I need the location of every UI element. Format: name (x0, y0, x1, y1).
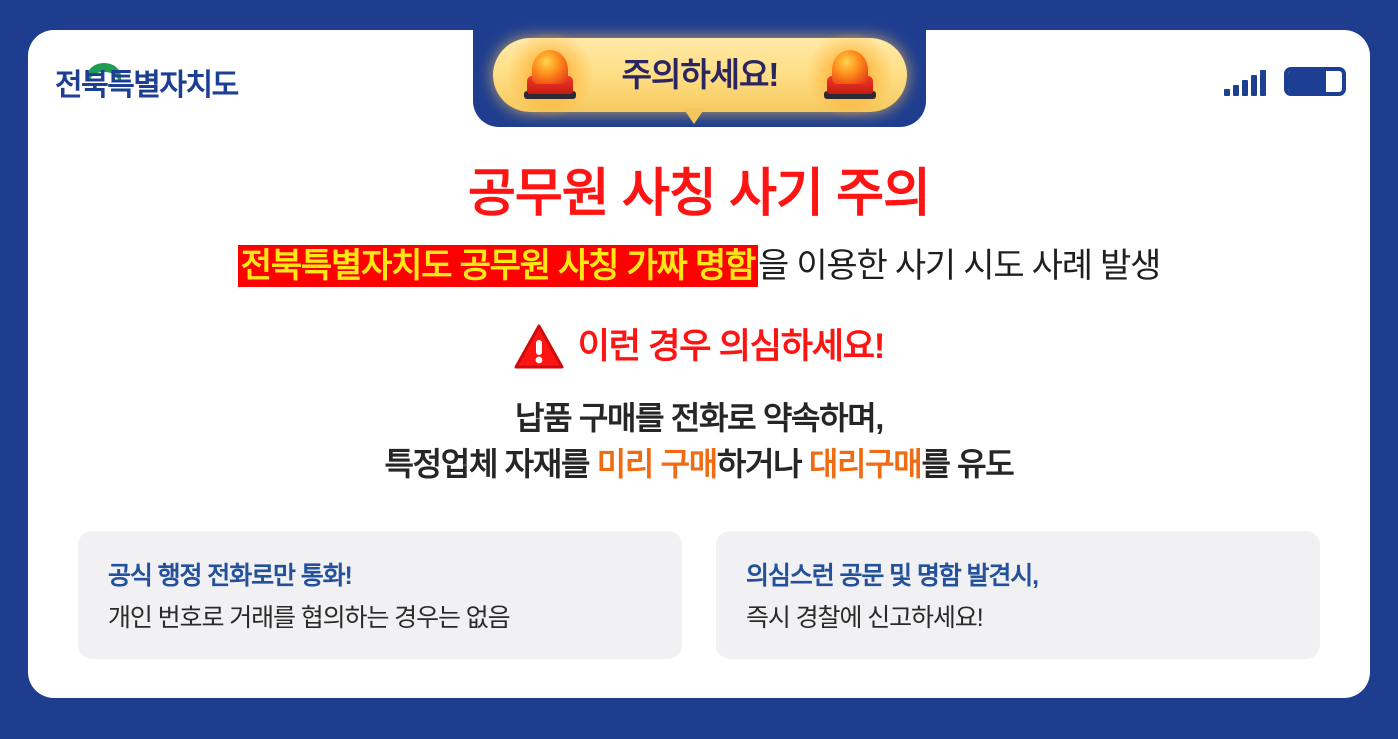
detail-line2-part1: 특정업체 자재를 (385, 446, 597, 482)
subline-highlight: 전북특별자치도 공무원 사칭 가짜 명함 (238, 245, 758, 287)
siren-light-icon (521, 46, 579, 104)
alert-badge-label: 주의하세요! (622, 38, 779, 112)
brand-logo: 전북특별자치도 (55, 63, 255, 111)
siren-light-icon (821, 46, 879, 104)
info-box-title: 공식 행정 전화로만 통화! (108, 559, 652, 593)
info-box: 의심스런 공문 및 명함 발견시, 즉시 경찰에 신고하세요! (716, 531, 1320, 659)
detail-line2-part3: 를 유도 (921, 446, 1013, 482)
status-bar (1224, 62, 1346, 96)
siren-dome (532, 50, 568, 84)
subline-rest: 을 이용한 사기 시도 사례 발생 (758, 247, 1160, 285)
battery-icon (1284, 67, 1346, 96)
battery-fill (1288, 71, 1326, 92)
info-box-title: 의심스런 공문 및 명함 발견시, (746, 559, 1290, 593)
detail-line-1: 납품 구매를 전화로 약속하며, (28, 395, 1370, 441)
detail-line2-part2: 하거나 (717, 446, 809, 482)
signal-bars-icon (1224, 70, 1266, 96)
brand-logo-text: 전북특별자치도 (55, 67, 238, 105)
main-content: 공무원 사칭 사기 주의 전북특별자치도 공무원 사칭 가짜 명함을 이용한 사… (28, 140, 1370, 487)
siren-dome (832, 50, 868, 84)
suspect-heading-text: 이런 경우 의심하세요! (578, 324, 885, 369)
detail-line2-orange1: 미리 구매 (597, 446, 717, 482)
alert-badge-tail (683, 108, 705, 124)
warning-triangle-icon (514, 324, 564, 369)
info-box-group: 공식 행정 전화로만 통화! 개인 번호로 거래를 협의하는 경우는 없음 의심… (78, 531, 1320, 659)
detail-line-2: 특정업체 자재를 미리 구매하거나 대리구매를 유도 (28, 441, 1370, 487)
suspect-heading: 이런 경우 의심하세요! (28, 324, 1370, 369)
headline: 공무원 사칭 사기 주의 (28, 160, 1370, 228)
info-box: 공식 행정 전화로만 통화! 개인 번호로 거래를 협의하는 경우는 없음 (78, 531, 682, 659)
alert-badge: 주의하세요! (493, 38, 907, 130)
detail-line2-orange2: 대리구매 (809, 446, 922, 482)
detail-block: 납품 구매를 전화로 약속하며, 특정업체 자재를 미리 구매하거나 대리구매를… (28, 395, 1370, 487)
subline: 전북특별자치도 공무원 사칭 가짜 명함을 이용한 사기 시도 사례 발생 (28, 242, 1370, 290)
poster-root: 전북특별자치도 주의하세요! 공무원 사칭 사기 주의 (0, 0, 1398, 739)
info-box-body: 개인 번호로 거래를 협의하는 경우는 없음 (108, 601, 652, 635)
info-box-body: 즉시 경찰에 신고하세요! (746, 601, 1290, 635)
